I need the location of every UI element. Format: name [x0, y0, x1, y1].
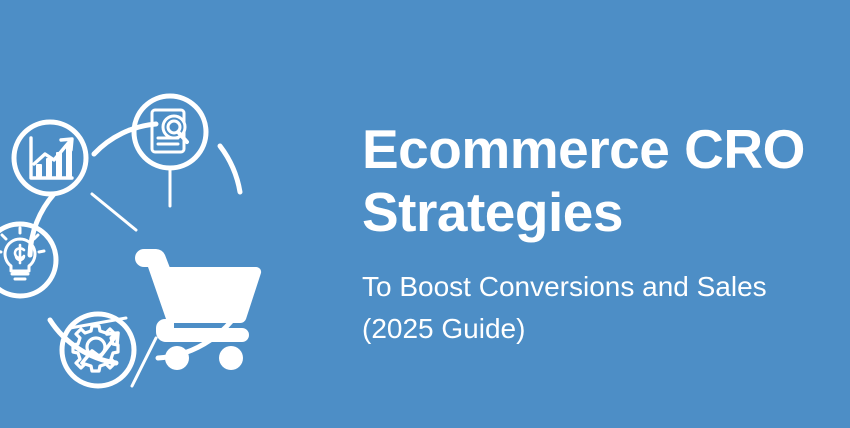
node-research — [134, 96, 206, 168]
node-ideas — [0, 224, 56, 296]
banner-headline-line2: Strategies — [362, 181, 850, 244]
node-analytics — [14, 122, 86, 194]
banner: Ecommerce CRO Strategies To Boost Conver… — [0, 0, 850, 428]
banner-text-block: Ecommerce CRO Strategies To Boost Conver… — [362, 118, 850, 350]
node-optimization — [62, 314, 134, 386]
bar-chart-growth-icon — [31, 138, 72, 178]
ecommerce-cro-illustration — [0, 70, 318, 400]
cart-wheel-left — [165, 346, 189, 370]
illustration-canvas — [0, 70, 318, 400]
connector-ring — [30, 124, 246, 363]
shopping-cart-icon — [135, 249, 261, 370]
document-magnifier-icon — [152, 110, 187, 152]
node-ideas-ring — [0, 224, 56, 296]
banner-subhead-line2: (2025 Guide) — [362, 308, 850, 350]
lightbulb-dollar-icon — [0, 228, 44, 279]
cart-wheel-right — [219, 346, 243, 370]
banner-headline-line1: Ecommerce CRO — [362, 118, 850, 181]
banner-subhead-line1: To Boost Conversions and Sales — [362, 244, 850, 308]
